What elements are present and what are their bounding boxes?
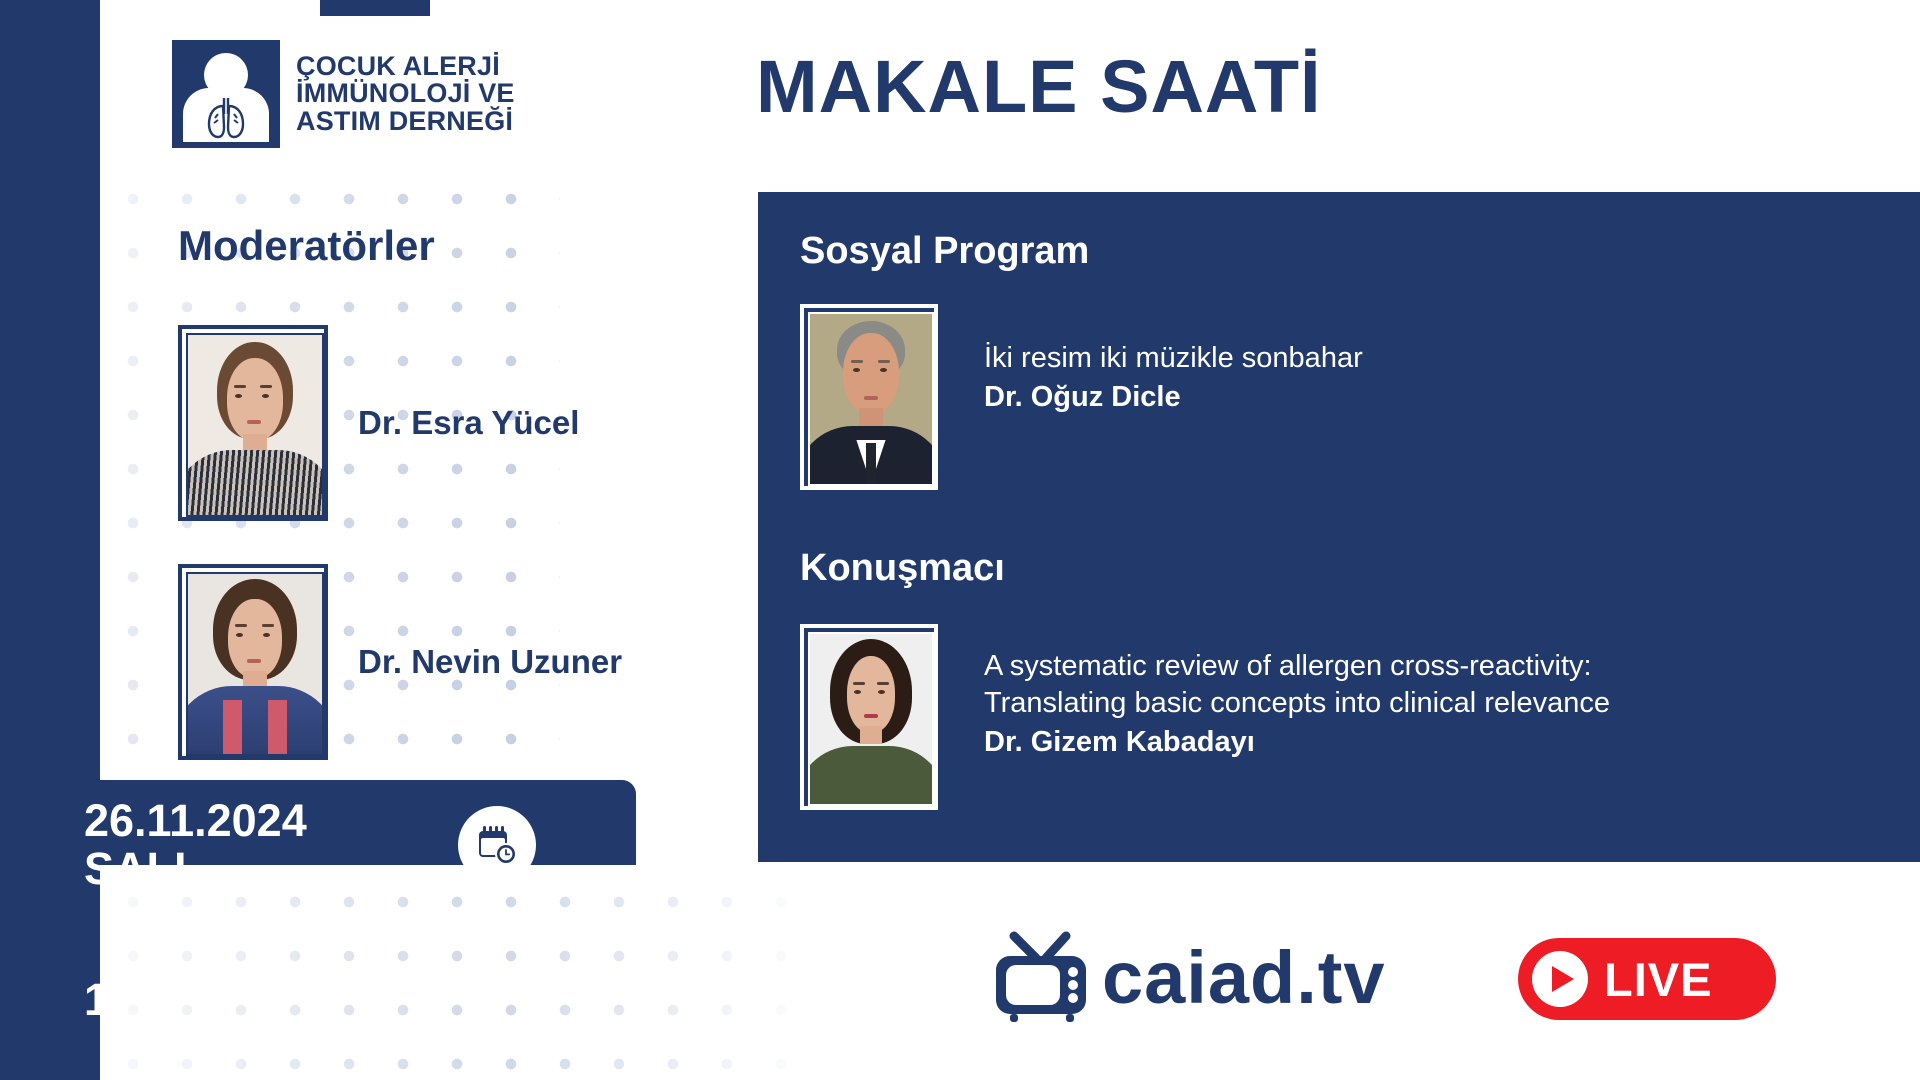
speaker-name: Dr. Gizem Kabadayı	[984, 724, 1610, 761]
moderator-name: Dr. Esra Yücel	[358, 404, 579, 442]
speaker-talk-title-line2: Translating basic concepts into clinical…	[984, 685, 1610, 722]
logo-lungs-shape	[200, 96, 252, 140]
logo-line-2: İMMÜNOLOJİ VE	[296, 80, 515, 108]
moderator-item-2: Dr. Nevin Uzuner	[178, 564, 622, 760]
navy-top-tab	[320, 0, 430, 16]
social-speaker-name: Dr. Oğuz Dicle	[984, 379, 1363, 416]
speaker-text: A systematic review of allergen cross-re…	[984, 624, 1610, 761]
speaker-talk-title-line1: A systematic review of allergen cross-re…	[984, 648, 1610, 685]
speaker-heading: Konuşmacı	[800, 547, 1005, 590]
moderator-item-1: Dr. Esra Yücel	[178, 325, 579, 521]
moderator-photo-frame	[178, 325, 328, 521]
page-title: MAKALE SAATİ	[756, 44, 1756, 129]
speaker-entry: A systematic review of allergen cross-re…	[800, 624, 1610, 810]
play-icon	[1532, 951, 1588, 1007]
social-program-entry: İki resim iki müzikle sonbahar Dr. Oğuz …	[800, 304, 1363, 490]
retro-tv-icon	[990, 930, 1098, 1026]
moderator-photo	[186, 572, 324, 756]
footer-dot-fade	[100, 865, 820, 1080]
moderator-photo-frame	[178, 564, 328, 760]
poster-root: ÇOCUK ALERJİ İMMÜNOLOJİ VE ASTIM DERNEĞİ…	[0, 0, 1920, 1080]
social-program-text: İki resim iki müzikle sonbahar Dr. Oğuz …	[984, 304, 1363, 416]
brand-text: caiad.tv	[1102, 941, 1386, 1015]
social-talk-title: İki resim iki müzikle sonbahar	[984, 340, 1363, 377]
speaker-photo-frame	[800, 624, 938, 810]
social-speaker-photo-frame	[800, 304, 938, 490]
logo-line-3: ASTIM DERNEĞİ	[296, 108, 515, 136]
moderator-photo	[186, 333, 324, 517]
live-label: LIVE	[1604, 952, 1712, 1007]
program-panel: Sosyal Program	[758, 192, 1920, 862]
moderator-name: Dr. Nevin Uzuner	[358, 643, 622, 681]
navy-left-band	[0, 0, 100, 1080]
brand-logo[interactable]: caiad.tv	[990, 930, 1386, 1026]
association-logo: ÇOCUK ALERJİ İMMÜNOLOJİ VE ASTIM DERNEĞİ	[172, 40, 515, 148]
social-program-heading: Sosyal Program	[800, 230, 1089, 273]
speaker-photo	[808, 632, 934, 806]
event-date: 26.11.2024	[84, 797, 307, 845]
moderators-heading: Moderatörler	[178, 222, 435, 270]
logo-wordmark: ÇOCUK ALERJİ İMMÜNOLOJİ VE ASTIM DERNEĞİ	[296, 53, 515, 136]
social-speaker-photo	[808, 312, 934, 486]
logo-line-1: ÇOCUK ALERJİ	[296, 53, 515, 81]
live-badge[interactable]: LIVE	[1518, 938, 1776, 1020]
child-lungs-icon	[172, 40, 280, 148]
